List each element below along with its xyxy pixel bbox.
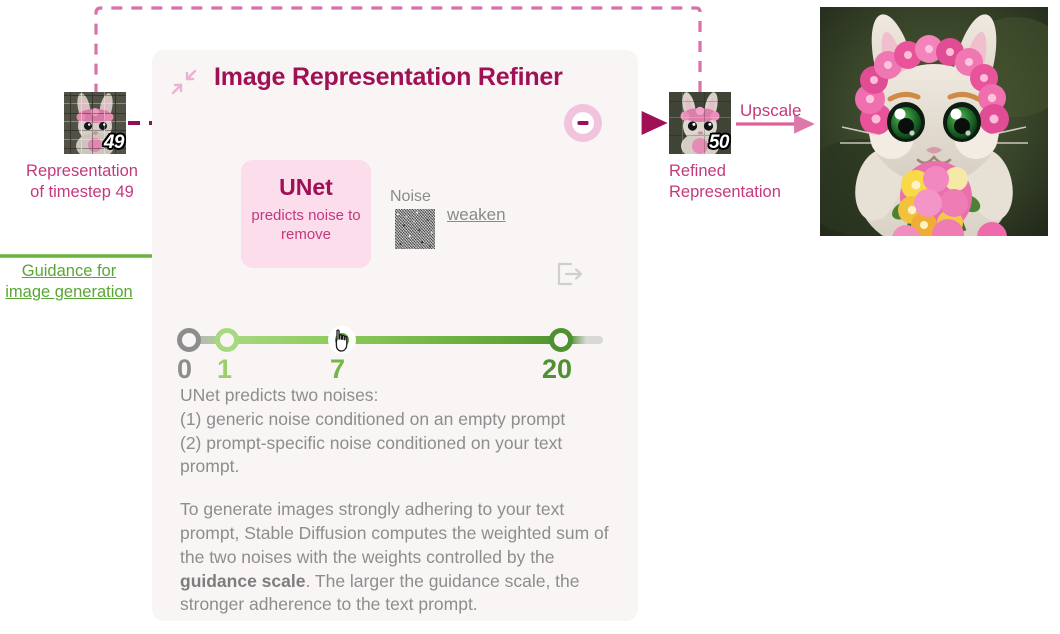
collapse-node-button[interactable]: [563, 103, 603, 143]
exit-icon[interactable]: [554, 260, 584, 288]
representation-thumbnail-50[interactable]: 50: [669, 92, 731, 154]
representation-thumbnail-49[interactable]: 49: [64, 92, 126, 154]
page-title: Image Representation Refiner: [214, 63, 563, 92]
slider-label-min: 0: [177, 354, 192, 385]
slider-label-max: 20: [542, 354, 572, 385]
panel-body-text: UNet predicts two noises: (1) generic no…: [180, 384, 612, 617]
final-generated-image[interactable]: [820, 7, 1048, 236]
unet-title: UNet: [241, 174, 371, 201]
paragraph-guidance-part1: To generate images strongly adhering to …: [180, 499, 609, 567]
guidance-link[interactable]: Guidance for image generation: [0, 261, 138, 304]
slider-track[interactable]: [183, 336, 603, 344]
representation-caption-output: Refined Representation: [669, 161, 819, 203]
unet-subtitle: predicts noise to remove: [241, 207, 371, 245]
slider-tick-0[interactable]: [177, 328, 201, 352]
bunny-final-image: [820, 7, 1048, 236]
paragraph-guidance: To generate images strongly adhering to …: [180, 498, 612, 617]
upscale-label: Upscale: [740, 101, 801, 121]
noise-tile: [395, 209, 435, 249]
weaken-label[interactable]: weaken: [447, 205, 506, 225]
slider-label-one: 1: [217, 354, 232, 385]
timestep-badge: 49: [104, 132, 124, 154]
hand-pointer-icon: [333, 329, 353, 353]
representation-caption-input: Representation of timestep 49: [12, 161, 152, 203]
guidance-scale-slider[interactable]: 0 1 7 20: [175, 316, 615, 376]
collapse-arrows-icon[interactable]: [170, 68, 198, 96]
paragraph-noises: UNet predicts two noises: (1) generic no…: [180, 384, 612, 479]
guidance-scale-term: guidance scale: [180, 571, 305, 591]
timestep-badge: 50: [709, 132, 729, 154]
slider-tick-1[interactable]: [215, 328, 239, 352]
slider-tick-20[interactable]: [549, 328, 573, 352]
noise-label: Noise: [390, 188, 431, 206]
diagram-canvas: Image Representation Refiner UNet predic…: [0, 0, 1060, 634]
slider-label-value: 7: [330, 354, 345, 385]
unet-node[interactable]: UNet predicts noise to remove: [241, 160, 371, 268]
